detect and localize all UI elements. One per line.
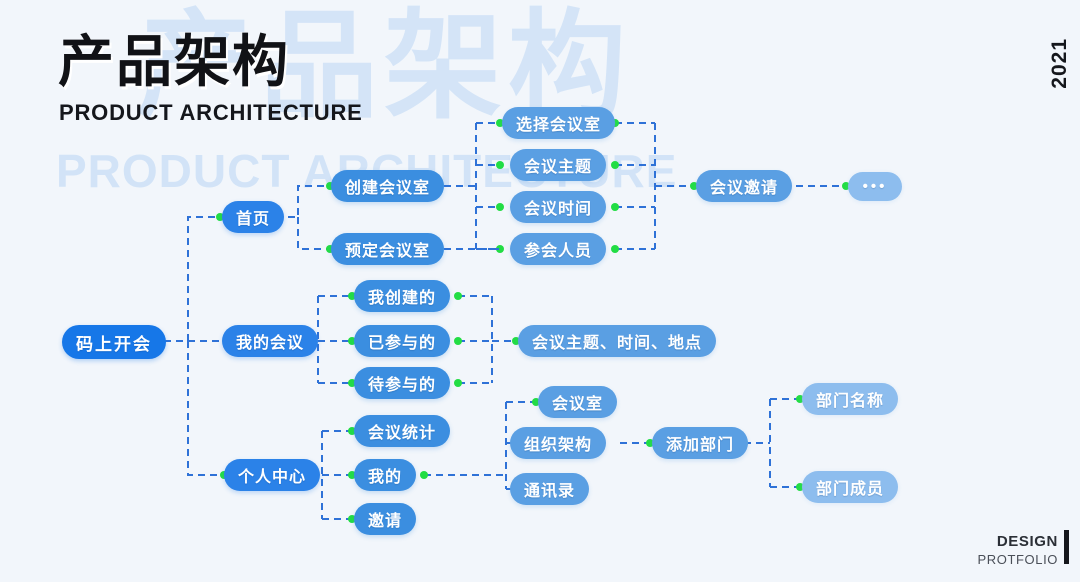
node-more[interactable]: •••	[848, 172, 902, 201]
node-create-room[interactable]: 创建会议室	[331, 170, 444, 202]
node-personal-center[interactable]: 个人中心	[224, 459, 320, 491]
node-meeting-time[interactable]: 会议时间	[510, 191, 606, 223]
node-mine[interactable]: 我的	[354, 459, 416, 491]
slide-canvas: 产品架构 PRODUCT ARCHITECTURE 产品架构 PRODUCT A…	[0, 0, 1080, 582]
page-title-en: PRODUCT ARCHITECTURE	[59, 102, 363, 124]
node-meeting-invite[interactable]: 会议邀请	[696, 170, 792, 202]
node-dept-name[interactable]: 部门名称	[802, 383, 898, 415]
node-home[interactable]: 首页	[222, 201, 284, 233]
node-topic-time-place[interactable]: 会议主题、时间、地点	[518, 325, 716, 357]
node-joined[interactable]: 已参与的	[354, 325, 450, 357]
node-contacts[interactable]: 通讯录	[510, 473, 589, 505]
node-room[interactable]: 会议室	[538, 386, 617, 418]
node-dept-member[interactable]: 部门成员	[802, 471, 898, 503]
footer-credit: DESIGN PROTFOLIO	[977, 533, 1058, 568]
page-title-cn: 产品架构	[58, 34, 290, 90]
node-book-room[interactable]: 预定会议室	[331, 233, 444, 265]
footer-line-1: DESIGN	[977, 533, 1058, 552]
node-select-room[interactable]: 选择会议室	[502, 107, 615, 139]
node-org-structure[interactable]: 组织架构	[510, 427, 606, 459]
node-meeting-stats[interactable]: 会议统计	[354, 415, 450, 447]
year-label: 2021	[1049, 38, 1070, 89]
node-add-department[interactable]: 添加部门	[652, 427, 748, 459]
node-invite[interactable]: 邀请	[354, 503, 416, 535]
node-root[interactable]: 码上开会	[62, 325, 166, 359]
node-my-meetings[interactable]: 我的会议	[222, 325, 318, 357]
node-meeting-topic[interactable]: 会议主题	[510, 149, 606, 181]
node-pending[interactable]: 待参与的	[354, 367, 450, 399]
footer-accent-bar	[1064, 530, 1069, 564]
node-created-by-me[interactable]: 我创建的	[354, 280, 450, 312]
footer-line-2: PROTFOLIO	[977, 552, 1058, 568]
node-attendees[interactable]: 参会人员	[510, 233, 606, 265]
